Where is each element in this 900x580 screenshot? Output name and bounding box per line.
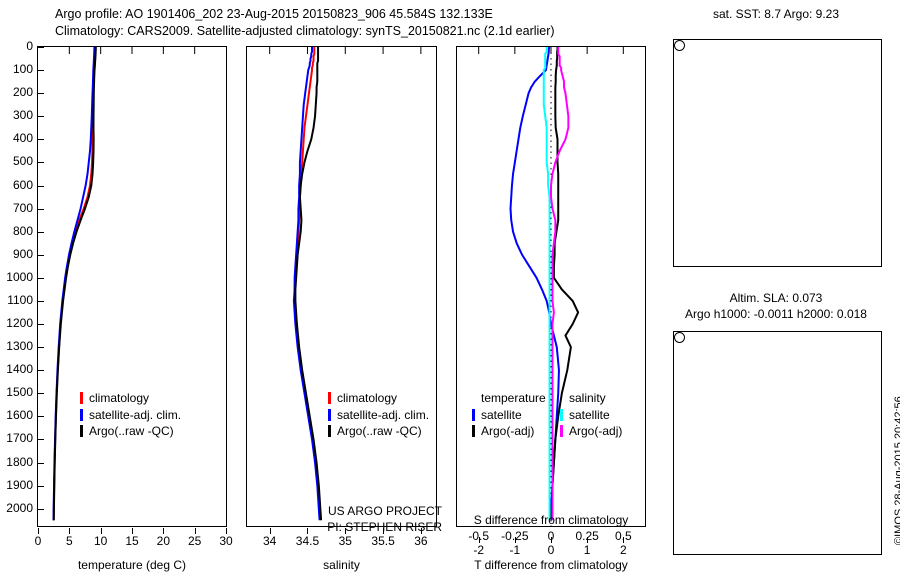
depth-tickmark xyxy=(38,393,44,394)
depth-tick-800: 800 xyxy=(0,224,33,238)
t-diff-tick-1: 1 xyxy=(571,543,603,557)
temperature-tickmark xyxy=(132,528,133,534)
depth-tickmark xyxy=(38,70,44,71)
sst-map xyxy=(673,39,882,267)
depth-tickmark xyxy=(38,324,44,325)
t-difference-axis-title: T difference from climatology xyxy=(452,558,650,572)
temperature-tick-20: 20 xyxy=(149,534,177,548)
depth-tickmark xyxy=(38,232,44,233)
temperature-tick-15: 15 xyxy=(118,534,146,548)
depth-tickmark xyxy=(38,255,44,256)
depth-tick-100: 100 xyxy=(0,62,33,76)
temperature-profile-panel xyxy=(37,46,227,527)
salinity-legend: climatologysatellite-adj. clim.Argo(..ra… xyxy=(328,390,429,440)
sla-map-title-line-1: Altim. SLA: 0.073 xyxy=(655,290,897,306)
depth-tick-700: 700 xyxy=(0,201,33,215)
depth-tick-1000: 1000 xyxy=(0,270,33,284)
difference-legend-temperature-entry: satellite xyxy=(472,407,546,424)
depth-tick-1700: 1700 xyxy=(0,431,33,445)
depth-tickmark xyxy=(38,463,44,464)
salinity-tick-34.5: 34.5 xyxy=(287,534,327,548)
depth-tickmark xyxy=(38,347,44,348)
difference-profile-panel xyxy=(456,46,646,527)
temperature-legend-label: Argo(..raw -QC) xyxy=(89,423,174,440)
title-line-1: Argo profile: AO 1901406_202 23-Aug-2015… xyxy=(55,6,655,23)
temperature-tickmark xyxy=(38,528,39,534)
temperature-tickmark xyxy=(195,528,196,534)
temperature-legend-entry: Argo(..raw -QC) xyxy=(80,423,181,440)
t-diff-tickmark xyxy=(479,537,480,543)
s-difference-axis-title: S difference from climatology xyxy=(456,513,646,527)
legend-swatch-icon xyxy=(472,425,475,437)
difference-legend-salinity: salinitysatelliteArgo(-adj) xyxy=(560,390,622,440)
t-diff-tick-2: 2 xyxy=(607,543,639,557)
t-diff-tickmark xyxy=(551,537,552,543)
salinity-legend-label: Argo(..raw -QC) xyxy=(337,423,422,440)
legend-swatch-icon xyxy=(328,392,331,404)
imos-timestamp: ©IMOS 28-Aug-2015 20:42:56 xyxy=(893,396,900,545)
temperature-legend-entry: climatology xyxy=(80,390,181,407)
depth-tick-2000: 2000 xyxy=(0,501,33,515)
temperature-tick-30: 30 xyxy=(212,534,240,548)
depth-tick-1600: 1600 xyxy=(0,408,33,422)
difference-legend-salinity-title: salinity xyxy=(560,390,622,407)
legend-swatch-icon xyxy=(80,409,83,421)
t-diff-tickmark xyxy=(623,537,624,543)
salinity-profile-plot xyxy=(247,47,436,526)
salinity-tick-35: 35 xyxy=(325,534,365,548)
temperature-legend: climatologysatellite-adj. clim.Argo(..ra… xyxy=(80,390,181,440)
legend-swatch-icon xyxy=(328,409,331,421)
depth-tickmark xyxy=(38,209,44,210)
salinity-axis-title: salinity xyxy=(246,558,437,572)
difference-legend-salinity-entry: Argo(-adj) xyxy=(560,423,622,440)
depth-tick-1200: 1200 xyxy=(0,316,33,330)
temperature-tick-25: 25 xyxy=(181,534,209,548)
depth-tick-0: 0 xyxy=(0,39,33,53)
temperature-legend-label: satellite-adj. clim. xyxy=(89,407,181,424)
legend-swatch-icon xyxy=(560,425,563,437)
legend-swatch-icon xyxy=(328,425,331,437)
depth-tick-500: 500 xyxy=(0,154,33,168)
temperature-tickmark xyxy=(69,528,70,534)
t-diff-tickmark xyxy=(587,537,588,543)
legend-swatch-icon xyxy=(80,425,83,437)
sst-map-title-line-1: sat. SST: 8.7 Argo: 9.23 xyxy=(660,6,892,22)
depth-tick-600: 600 xyxy=(0,178,33,192)
depth-tick-1300: 1300 xyxy=(0,339,33,353)
temperature-tickmark xyxy=(163,528,164,534)
depth-tickmark xyxy=(38,439,44,440)
depth-tickmark xyxy=(38,162,44,163)
depth-tick-1500: 1500 xyxy=(0,385,33,399)
t-diff-tick--2: -2 xyxy=(463,543,495,557)
depth-tickmark xyxy=(38,416,44,417)
depth-tick-400: 400 xyxy=(0,131,33,145)
depth-tick-200: 200 xyxy=(0,85,33,99)
salinity-tick-34: 34 xyxy=(250,534,290,548)
t-diff-tick--1: -1 xyxy=(499,543,531,557)
depth-tick-300: 300 xyxy=(0,108,33,122)
temperature-tickmark xyxy=(226,528,227,534)
salinity-legend-entry: satellite-adj. clim. xyxy=(328,407,429,424)
sst-map-title: sat. SST: 8.7 Argo: 9.23 xyxy=(660,6,892,22)
difference-legend-salinity-entry: satellite xyxy=(560,407,622,424)
depth-tickmark xyxy=(38,486,44,487)
temperature-axis-title: temperature (deg C) xyxy=(0,558,264,572)
credit-line-1: US ARGO PROJECT xyxy=(246,503,442,519)
temperature-tick-10: 10 xyxy=(87,534,115,548)
title-line-2: Climatology: CARS2009. Satellite-adjuste… xyxy=(55,23,655,40)
depth-tickmark xyxy=(38,278,44,279)
salinity-tick-36: 36 xyxy=(401,534,441,548)
depth-tick-1100: 1100 xyxy=(0,293,33,307)
legend-swatch-icon xyxy=(472,409,475,421)
depth-tickmark xyxy=(38,116,44,117)
t-diff-tick-0: 0 xyxy=(535,543,567,557)
salinity-tick-35.5: 35.5 xyxy=(363,534,403,548)
credit-line-2: PI: STEPHEN RISER xyxy=(246,519,442,535)
sla-map xyxy=(673,331,882,555)
t-diff-tickmark xyxy=(515,537,516,543)
legend-swatch-icon xyxy=(80,392,83,404)
depth-tickmark xyxy=(38,301,44,302)
depth-tick-900: 900 xyxy=(0,247,33,261)
depth-tickmark xyxy=(38,186,44,187)
temperature-profile-plot xyxy=(38,47,226,526)
salinity-legend-label: satellite-adj. clim. xyxy=(337,407,429,424)
difference-legend-salinity-label: satellite xyxy=(569,407,610,424)
difference-legend-salinity-label: Argo(-adj) xyxy=(569,423,622,440)
figure-title: Argo profile: AO 1901406_202 23-Aug-2015… xyxy=(55,6,655,40)
difference-legend-temperature-label: Argo(-adj) xyxy=(481,423,534,440)
depth-tickmark xyxy=(38,47,44,48)
temperature-tick-0: 0 xyxy=(24,534,52,548)
salinity-legend-entry: climatology xyxy=(328,390,429,407)
difference-legend-temperature: temperaturesatelliteArgo(-adj) xyxy=(472,390,546,440)
difference-legend-temperature-label: satellite xyxy=(481,407,522,424)
temperature-tick-5: 5 xyxy=(55,534,83,548)
temperature-tickmark xyxy=(101,528,102,534)
depth-tickmark xyxy=(38,370,44,371)
temperature-legend-entry: satellite-adj. clim. xyxy=(80,407,181,424)
project-credit: US ARGO PROJECT PI: STEPHEN RISER xyxy=(246,503,442,535)
depth-tick-1900: 1900 xyxy=(0,478,33,492)
difference-legend-temperature-entry: Argo(-adj) xyxy=(472,423,546,440)
difference-profile-plot xyxy=(457,47,645,526)
difference-legend-temperature-title: temperature xyxy=(472,390,546,407)
salinity-legend-entry: Argo(..raw -QC) xyxy=(328,423,429,440)
sst-map-raster xyxy=(674,40,882,267)
depth-tickmark xyxy=(38,139,44,140)
depth-tick-1800: 1800 xyxy=(0,455,33,469)
sst-map-profile-marker xyxy=(674,40,685,51)
sla-map-title: Altim. SLA: 0.073Argo h1000: -0.0011 h20… xyxy=(655,290,897,322)
depth-tickmark xyxy=(38,509,44,510)
sla-map-profile-marker xyxy=(674,332,685,343)
temperature-legend-label: climatology xyxy=(89,390,149,407)
sla-map-raster xyxy=(674,332,882,555)
depth-tick-1400: 1400 xyxy=(0,362,33,376)
sla-map-title-line-2: Argo h1000: -0.0011 h2000: 0.018 xyxy=(655,306,897,322)
salinity-legend-label: climatology xyxy=(337,390,397,407)
legend-swatch-icon xyxy=(560,409,563,421)
salinity-profile-panel xyxy=(246,46,437,527)
depth-tickmark xyxy=(38,93,44,94)
